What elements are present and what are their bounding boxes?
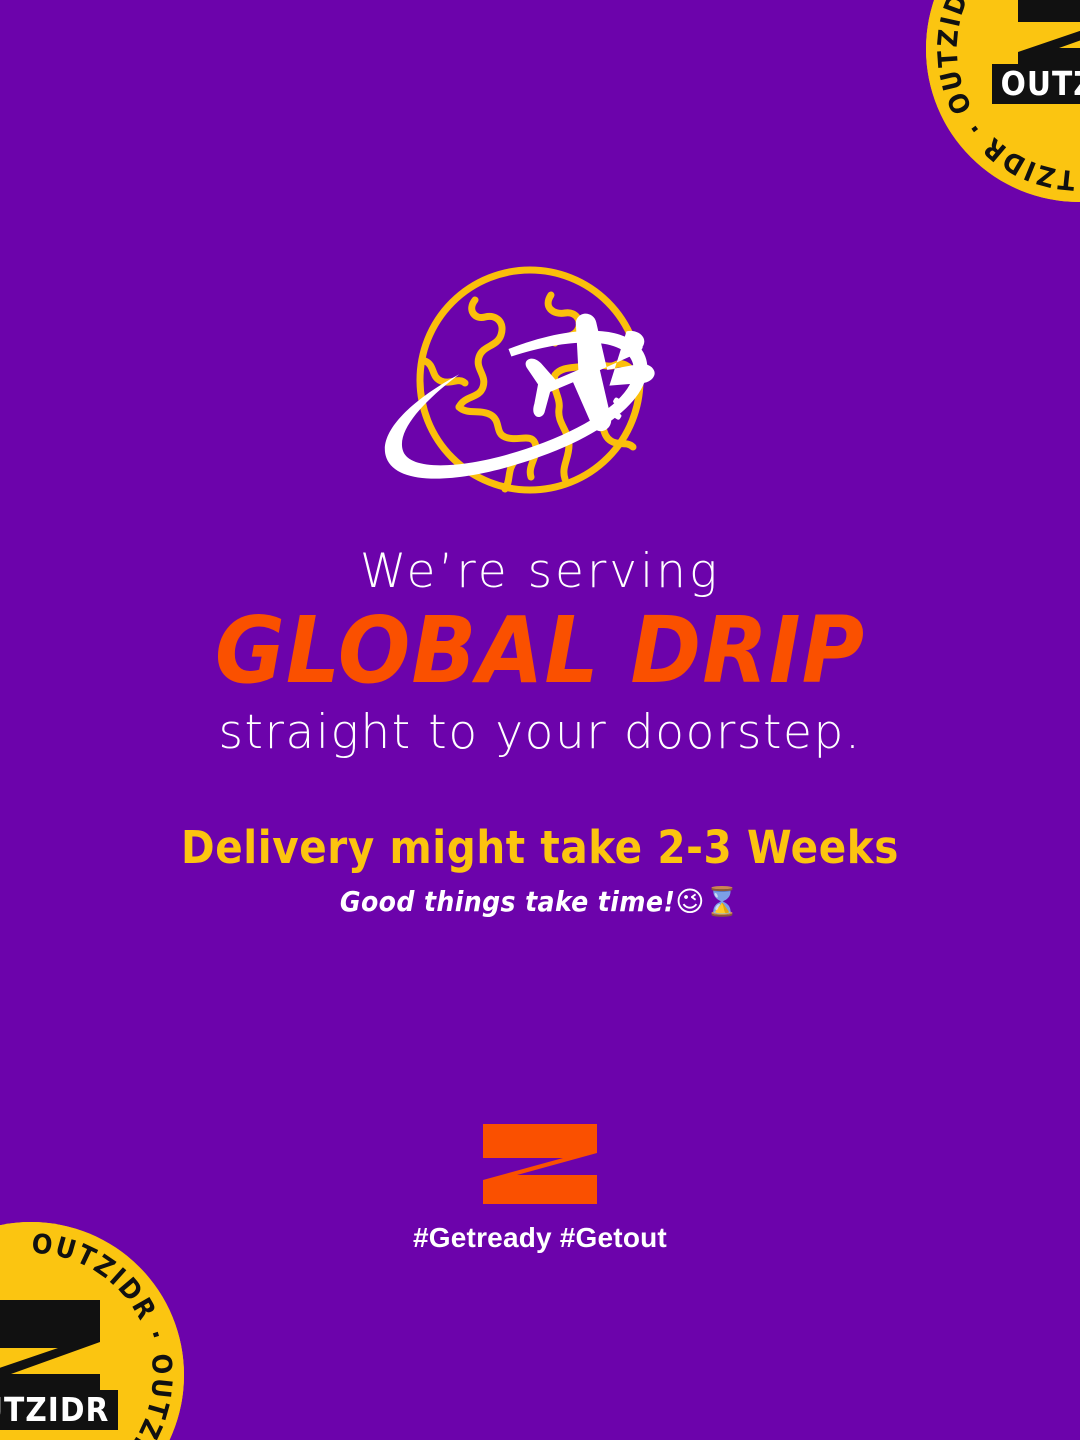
outzidr-seal-badge-top-right: OUTZIDR · OUTZIDR · OUTZIDR · OUTZIDR · … bbox=[926, 0, 1080, 202]
hashtags-text: #Getready #Getout bbox=[0, 1222, 1080, 1254]
headline-block: We’re serving GLOBAL DRIP straight to yo… bbox=[0, 548, 1080, 756]
outzidr-seal-badge-bottom-left: OUTZIDR · OUTZIDR · OUTZIDR · OUTZIDR · … bbox=[0, 1222, 184, 1440]
kicker-text: We’re serving bbox=[0, 548, 1080, 595]
delivery-note-text: Good things take time! bbox=[340, 885, 675, 918]
outzidr-z-logo bbox=[477, 1122, 603, 1206]
delivery-note: Good things take time!😉⌛ bbox=[0, 885, 1080, 918]
page-title: GLOBAL DRIP bbox=[0, 605, 1080, 697]
delivery-estimate-text: Delivery might take 2-3 Weeks bbox=[0, 824, 1080, 871]
badge-banner-text: OUTZIDR bbox=[0, 1390, 109, 1429]
poster-canvas: OUTZIDR · OUTZIDR · OUTZIDR · OUTZIDR · … bbox=[0, 0, 1080, 1440]
delivery-note-emoji: 😉⌛ bbox=[675, 885, 740, 918]
delivery-block: Delivery might take 2-3 Weeks Good thing… bbox=[0, 824, 1080, 918]
badge-banner-text: OUTZIDR bbox=[1001, 64, 1080, 103]
badge-banner: OUTZIDR bbox=[0, 1390, 118, 1430]
badge-banner: OUTZIDR bbox=[992, 64, 1080, 104]
globe-with-airplane-icon bbox=[355, 265, 725, 510]
subline-text: straight to your doorstep. bbox=[0, 709, 1080, 756]
footer-block: #Getready #Getout bbox=[0, 1122, 1080, 1254]
